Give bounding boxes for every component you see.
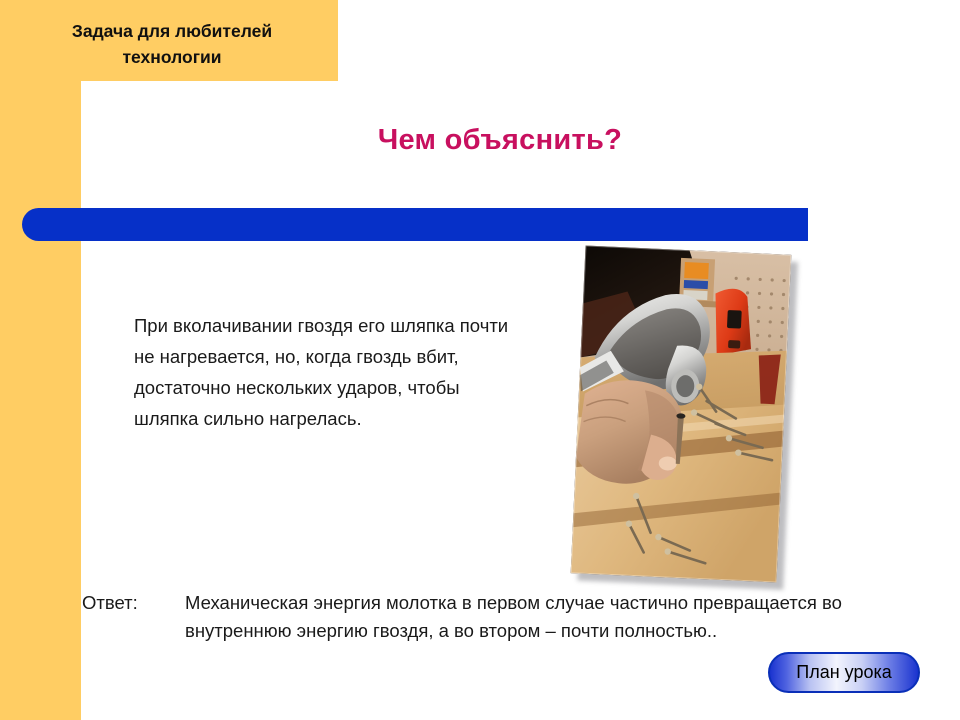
answer-label: Ответ:	[82, 589, 138, 617]
body-paragraph: При вколачивании гвоздя его шляпка почти…	[134, 310, 524, 434]
page-title: Чем объяснить?	[200, 124, 800, 157]
blue-divider-bar	[22, 208, 808, 241]
slide-canvas: Задача для любителей технологии Чем объя…	[0, 0, 960, 720]
header-title: Задача для любителей технологии	[26, 18, 318, 70]
answer-text: Механическая энергия молотка в первом сл…	[185, 589, 910, 645]
lesson-plan-button[interactable]: План урока	[768, 652, 920, 693]
photo-image	[571, 245, 792, 582]
workbench-photo	[571, 245, 792, 582]
left-orange-band	[0, 0, 81, 720]
